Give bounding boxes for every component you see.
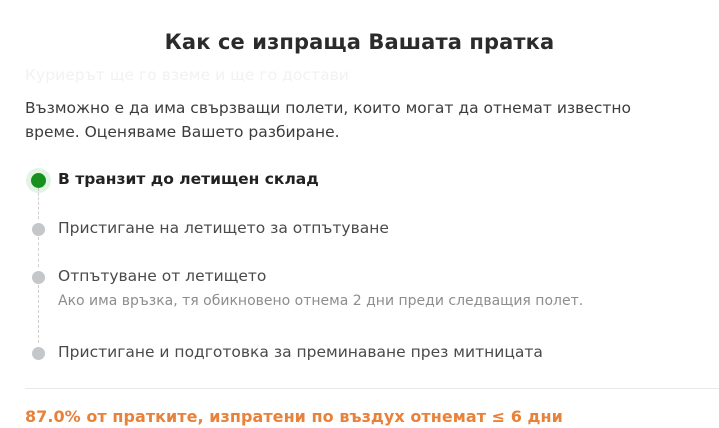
timeline-step-arrival-and-customs-preparation[interactable]: Пристигане и подготовка за преминаване п… — [25, 341, 695, 365]
timeline-step-description: Ако има връзка, тя обикновено отнема 2 д… — [58, 291, 695, 311]
section-divider — [25, 388, 719, 389]
intro-paragraph: Възможно е да има свързващи полети, коит… — [25, 96, 690, 144]
shipment-progress-panel: Как се изпраща Вашата пратка Куриерът ще… — [0, 0, 719, 428]
timeline-step-label: Отпътуване от летището — [58, 265, 695, 287]
timeline-step-in-transit-to-airport-warehouse[interactable]: В транзит до летищен склад — [25, 168, 695, 217]
page-title: Как се изпраща Вашата пратка — [0, 30, 719, 54]
shipment-timeline: В транзит до летищен склад Пристигане на… — [25, 168, 695, 365]
timeline-connector-line — [38, 188, 39, 219]
circle-icon — [32, 271, 45, 284]
timeline-step-departure-from-airport[interactable]: Отпътуване от летището Ако има връзка, т… — [25, 265, 695, 341]
timeline-step-arrival-at-departure-airport[interactable]: Пристигане на летището за отпътуване — [25, 217, 695, 265]
timeline-connector-line — [38, 285, 39, 343]
timeline-step-label: Пристигане на летището за отпътуване — [58, 217, 695, 239]
timeline-connector-line — [38, 237, 39, 267]
circle-icon — [32, 347, 45, 360]
timeline-step-label: В транзит до летищен склад — [58, 168, 695, 190]
faded-previous-step-text: Куриерът ще го вземе и ще го достави — [25, 66, 349, 84]
delivery-statistic-text: 87.0% от пратките, изпратени по въздух о… — [25, 407, 563, 426]
filled-circle-icon — [31, 173, 46, 188]
timeline-step-label: Пристигане и подготовка за преминаване п… — [58, 341, 695, 363]
circle-icon — [32, 223, 45, 236]
